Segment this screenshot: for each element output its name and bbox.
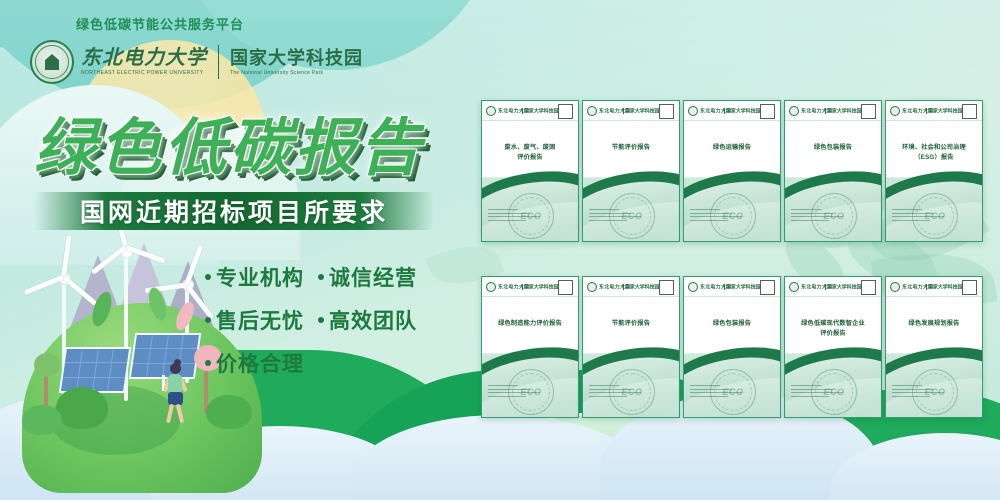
university-seal-icon (486, 282, 496, 292)
feature-item: 价格合理 (205, 348, 304, 378)
card-header: 东北电力大学 国家大学科技园 (482, 277, 578, 297)
card-header: 东北电力大学 国家大学科技园 (785, 277, 881, 297)
card-fineprint (892, 209, 944, 223)
card-header: 东北电力大学 国家大学科技园 (785, 101, 881, 121)
card-fineprint (488, 385, 540, 399)
university-seal-icon (587, 282, 597, 292)
card-header: 东北电力大学 国家大学科技园 (583, 101, 679, 121)
card-park-name: 国家大学科技园 (625, 107, 659, 114)
report-card[interactable]: 东北电力大学 国家大学科技园 绿色运输报告 ECO (683, 100, 781, 242)
feature-row: 价格合理 (205, 348, 475, 378)
card-title: 绿色低碳现代数智企业评价报告 (790, 319, 876, 338)
feature-label: 高效团队 (329, 305, 417, 335)
university-seal-icon (789, 282, 799, 292)
university-seal-icon (789, 106, 799, 116)
card-header: 东北电力大学 国家大学科技园 (886, 101, 982, 121)
card-title: 绿色发展规划报告 (891, 319, 977, 329)
platform-tagline: 绿色低碳节能公共服务平台 (0, 14, 470, 33)
report-card[interactable]: 东北电力大学 国家大学科技园 绿色发展规划报告 ECO (885, 276, 983, 418)
university-seal-icon (587, 106, 597, 116)
card-body: 节能评价报告 ECO (583, 297, 679, 418)
empty-checkbox-icon[interactable] (760, 280, 775, 295)
card-brand: 东北电力大学 国家大学科技园 (902, 108, 952, 114)
page-title: 绿色低碳报告 (34, 118, 434, 180)
feature-item: 高效团队 (318, 305, 417, 335)
card-brand: 东北电力大学 国家大学科技园 (801, 284, 851, 290)
card-title: 节能评价报告 (588, 143, 674, 153)
feature-list: 专业机构 诚信经营 售后无忧 高效团队 价格合理 (205, 262, 475, 391)
card-body: 废水、废气、废固评价报告 ECO (482, 121, 578, 242)
card-park-name: 国家大学科技园 (625, 283, 659, 290)
card-fineprint (690, 385, 742, 399)
university-seal-icon (688, 282, 698, 292)
bullet-dot-icon (205, 317, 211, 323)
card-body: 绿色低碳现代数智企业评价报告 ECO (785, 297, 881, 418)
card-park-name: 国家大学科技园 (928, 283, 962, 290)
card-header: 东北电力大学 国家大学科技园 (583, 277, 679, 297)
university-seal-icon (890, 282, 900, 292)
feature-item: 专业机构 (205, 262, 304, 292)
university-seal-icon (30, 40, 74, 84)
card-body: 节能评价报告 ECO (583, 121, 679, 242)
bullet-dot-icon (205, 274, 211, 280)
empty-checkbox-icon[interactable] (962, 280, 977, 295)
walking-person-icon (158, 363, 192, 423)
report-card[interactable]: 东北电力大学 国家大学科技园 环境、社会和公司治理（ESG）报告 ECO (885, 100, 983, 242)
card-fineprint (892, 385, 944, 399)
card-park-name: 国家大学科技园 (827, 107, 861, 114)
card-brand: 东北电力大学 国家大学科技园 (700, 108, 750, 114)
empty-checkbox-icon[interactable] (659, 104, 674, 119)
feature-item: 诚信经营 (318, 262, 417, 292)
empty-checkbox-icon[interactable] (659, 280, 674, 295)
card-park-name: 国家大学科技园 (827, 283, 861, 290)
bush-icon (206, 395, 252, 429)
card-body: 绿色包装报告 ECO (684, 297, 780, 418)
card-body: 绿色包装报告 ECO (785, 121, 881, 242)
report-card[interactable]: 东北电力大学 国家大学科技园 节能评价报告 ECO (582, 100, 680, 242)
feature-row: 专业机构 诚信经营 (205, 262, 475, 292)
empty-checkbox-icon[interactable] (760, 104, 775, 119)
report-card[interactable]: 东北电力大学 国家大学科技园 绿色包装报告 ECO (784, 100, 882, 242)
report-card[interactable]: 东北电力大学 国家大学科技园 废水、废气、废固评价报告 ECO (481, 100, 579, 242)
brand-row: 东北电力大学 NORTHEAST ELECTRIC POWER UNIVERSI… (30, 40, 470, 84)
card-brand: 东北电力大学 国家大学科技园 (498, 284, 548, 290)
card-body: 绿色制造能力评价报告 ECO (482, 297, 578, 418)
card-header: 东北电力大学 国家大学科技园 (684, 277, 780, 297)
header-brand-block: 绿色低碳节能公共服务平台 东北电力大学 NORTHEAST ELECTRIC P… (0, 14, 470, 84)
poster-canvas: 绿色低碳节能公共服务平台 东北电力大学 NORTHEAST ELECTRIC P… (0, 0, 1000, 500)
card-brand: 东北电力大学 国家大学科技园 (700, 284, 750, 290)
card-fineprint (791, 385, 843, 399)
card-header: 东北电力大学 国家大学科技园 (684, 101, 780, 121)
feature-label: 专业机构 (216, 262, 304, 292)
report-card[interactable]: 东北电力大学 国家大学科技园 绿色包装报告 ECO (683, 276, 781, 418)
brand-divider (218, 45, 219, 79)
report-card-grid: 东北电力大学 国家大学科技园 废水、废气、废固评价报告 ECO (481, 100, 981, 416)
card-park-name: 国家大学科技园 (928, 107, 962, 114)
empty-checkbox-icon[interactable] (861, 104, 876, 119)
bullet-dot-icon (318, 274, 324, 280)
card-brand: 东北电力大学 国家大学科技园 (801, 108, 851, 114)
card-brand: 东北电力大学 国家大学科技园 (498, 108, 548, 114)
seal-mark-icon (45, 54, 59, 70)
report-card[interactable]: 东北电力大学 国家大学科技园 绿色低碳现代数智企业评价报告 ECO (784, 276, 882, 418)
card-fineprint (589, 385, 641, 399)
card-fineprint (690, 209, 742, 223)
empty-checkbox-icon[interactable] (558, 280, 573, 295)
feature-label: 诚信经营 (329, 262, 417, 292)
empty-checkbox-icon[interactable] (962, 104, 977, 119)
card-header: 东北电力大学 国家大学科技园 (886, 277, 982, 297)
card-body: 绿色发展规划报告 ECO (886, 297, 982, 418)
card-brand: 东北电力大学 国家大学科技园 (599, 108, 649, 114)
science-park-name-en: The National University Science Park (230, 70, 363, 76)
university-seal-icon (688, 106, 698, 116)
science-park-block: 国家大学科技园 The National University Science … (230, 49, 363, 76)
science-park-name-cn: 国家大学科技园 (230, 49, 363, 67)
card-park-name: 国家大学科技园 (524, 283, 558, 290)
bush-icon (22, 405, 62, 435)
university-seal-icon (486, 106, 496, 116)
card-body: 环境、社会和公司治理（ESG）报告 ECO (886, 121, 982, 242)
card-title: 绿色制造能力评价报告 (487, 319, 573, 329)
card-fineprint (488, 209, 540, 223)
card-fineprint (589, 209, 641, 223)
empty-checkbox-icon[interactable] (861, 280, 876, 295)
subtitle-banner: 国网近期招标项目所要求 (34, 192, 434, 230)
card-title: 环境、社会和公司治理（ESG）报告 (891, 143, 977, 162)
card-park-name: 国家大学科技园 (726, 107, 760, 114)
university-name-block: 东北电力大学 NORTHEAST ELECTRIC POWER UNIVERSI… (81, 48, 207, 76)
card-brand: 东北电力大学 国家大学科技园 (902, 284, 952, 290)
card-fineprint (791, 209, 843, 223)
bullet-dot-icon (205, 360, 211, 366)
report-card[interactable]: 东北电力大学 国家大学科技园 节能评价报告 ECO (582, 276, 680, 418)
feature-label: 售后无忧 (216, 305, 304, 335)
card-body: 绿色运输报告 ECO (684, 121, 780, 242)
bullet-dot-icon (318, 317, 324, 323)
report-card[interactable]: 东北电力大学 国家大学科技园 绿色制造能力评价报告 ECO (481, 276, 579, 418)
card-title: 绿色包装报告 (790, 143, 876, 153)
card-title: 绿色包装报告 (689, 319, 775, 329)
card-title: 节能评价报告 (588, 319, 674, 329)
card-brand: 东北电力大学 国家大学科技园 (599, 284, 649, 290)
feature-item: 售后无忧 (205, 305, 304, 335)
empty-checkbox-icon[interactable] (558, 104, 573, 119)
card-title: 废水、废气、废固评价报告 (487, 143, 573, 162)
hero-block: 绿色低碳报告 国网近期招标项目所要求 (34, 118, 434, 230)
university-name-cn: 东北电力大学 (81, 48, 207, 68)
feature-row: 售后无忧 高效团队 (205, 305, 475, 335)
card-title: 绿色运输报告 (689, 143, 775, 153)
page-subtitle: 国网近期招标项目所要求 (80, 193, 388, 229)
university-name-en: NORTHEAST ELECTRIC POWER UNIVERSITY (81, 70, 207, 76)
card-park-name: 国家大学科技园 (524, 107, 558, 114)
card-header: 东北电力大学 国家大学科技园 (482, 101, 578, 121)
bush-icon (56, 387, 108, 429)
card-park-name: 国家大学科技园 (726, 283, 760, 290)
feature-label: 价格合理 (216, 348, 304, 378)
university-seal-icon (890, 106, 900, 116)
